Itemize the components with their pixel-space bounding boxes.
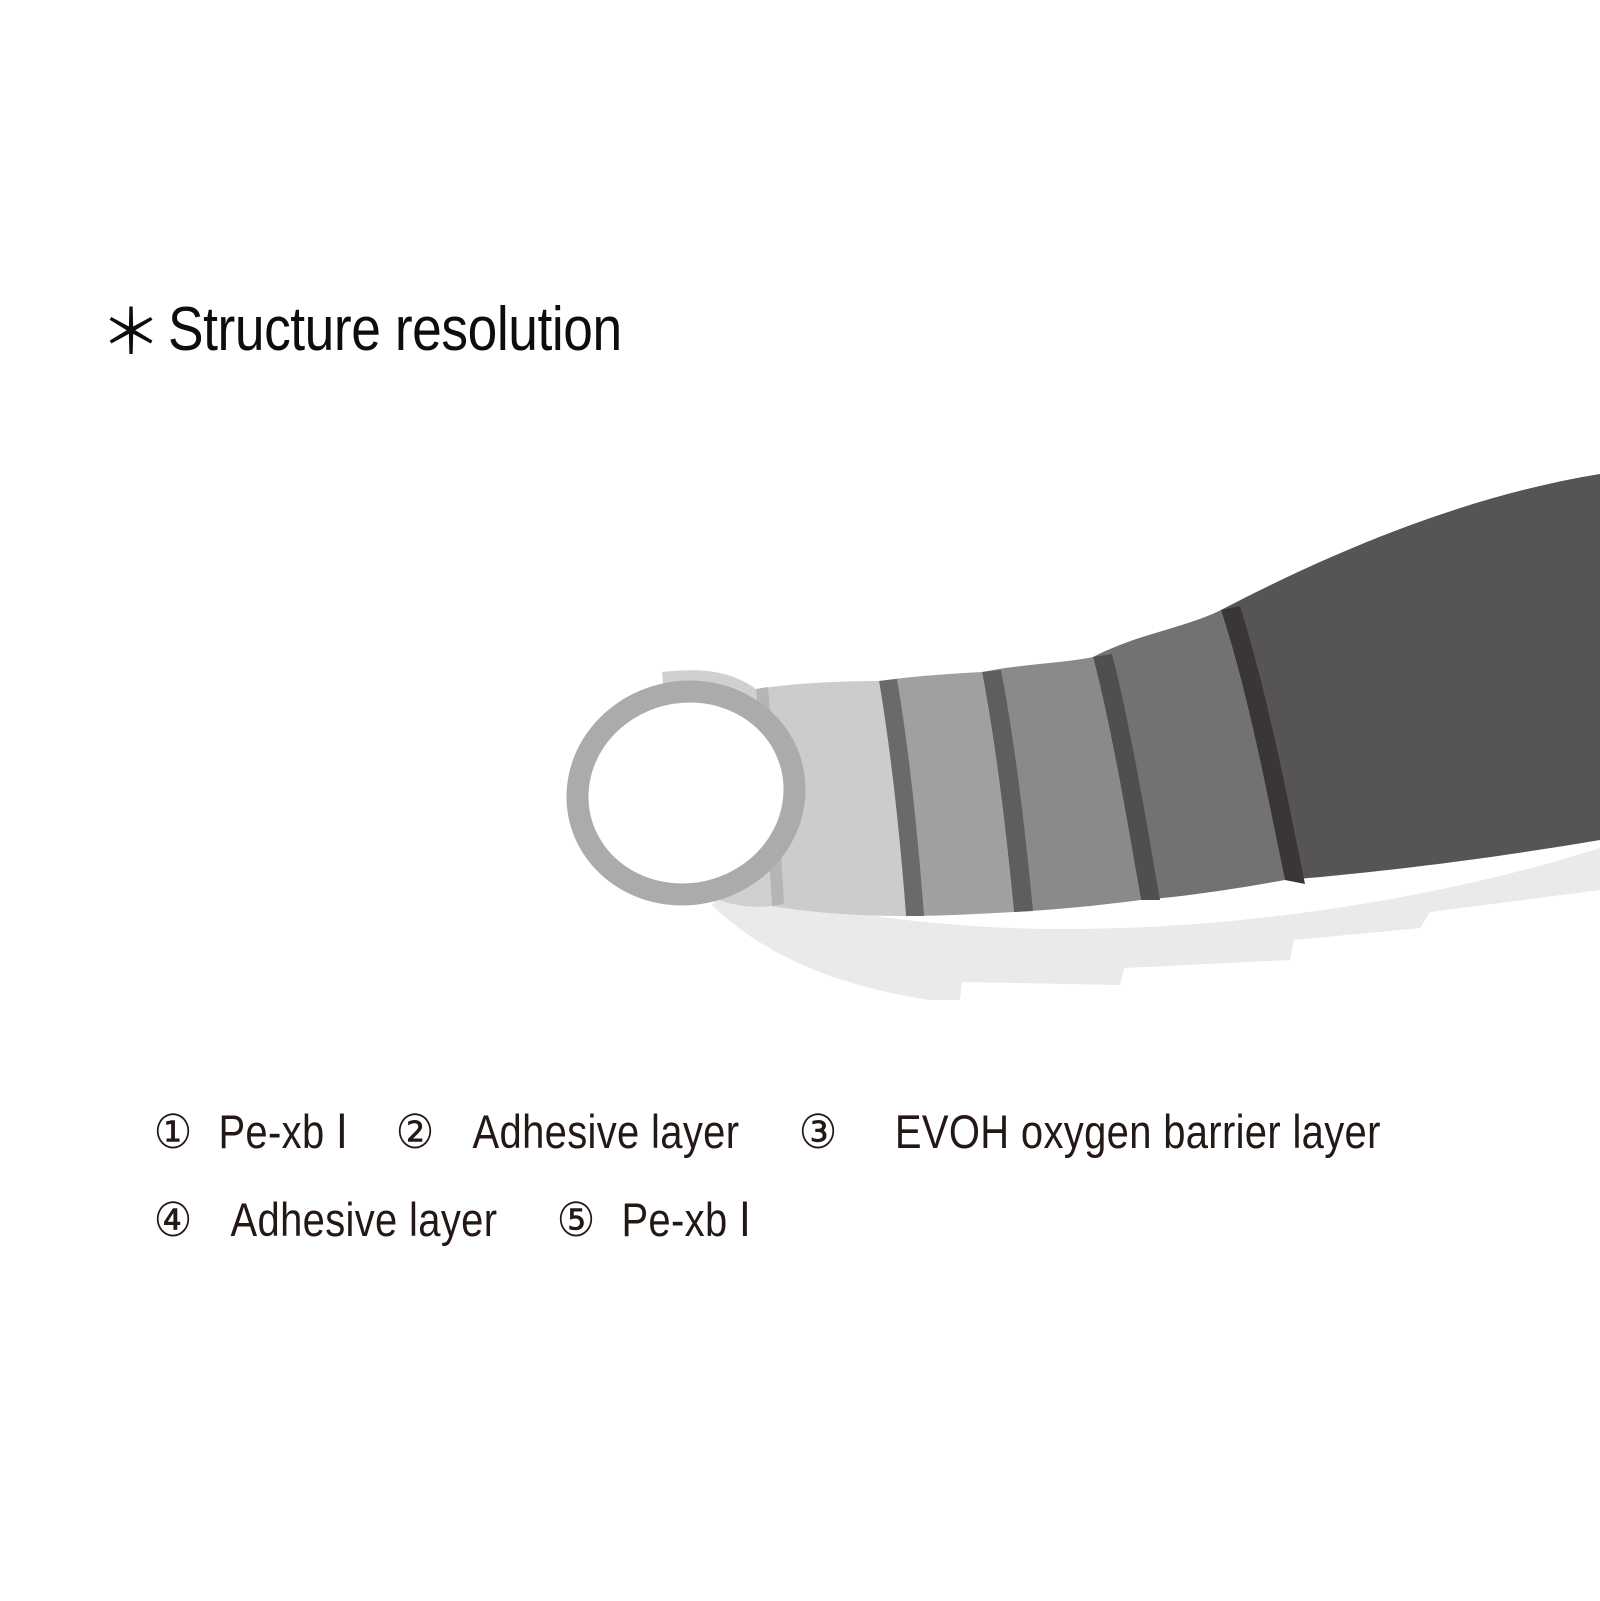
legend-item-2: ② Adhesive layer (394, 1108, 763, 1156)
legend-label-2: Adhesive layer (472, 1108, 739, 1155)
pipe-shadow (712, 848, 1600, 1000)
pipe-layer-5-body (1221, 474, 1600, 880)
legend-label-4: Adhesive layer (231, 1196, 498, 1243)
circled-number-2-icon: ② (395, 1109, 434, 1156)
legend-item-5: ⑤ Pe-xb Ⅰ (555, 1196, 763, 1244)
page-title-text: Structure resolution (168, 297, 622, 362)
pipe-layer-2-body (879, 672, 1014, 916)
pipe-inner-bore-ellipse (569, 682, 803, 904)
multilayer-pipe-diagram (0, 0, 1600, 1601)
pipe-layer-3-edge (982, 670, 1033, 912)
circled-number-1-icon: ① (154, 1109, 193, 1156)
pipe-outer-wall-ellipse (542, 655, 829, 930)
circled-number-4-icon: ④ (154, 1197, 193, 1244)
illustration-canvas: ＊ Structure resolution (0, 0, 1600, 1601)
pipe-bore-face (662, 670, 772, 907)
legend: ① Pe-xb Ⅰ ② Adhesive layer ③ EVOH oxygen… (152, 1108, 1492, 1284)
legend-row-2: ④ Adhesive layer ⑤ Pe-xb Ⅰ (152, 1196, 1492, 1284)
legend-label-5: Pe-xb Ⅰ (622, 1196, 752, 1243)
pipe-layer-3-body (982, 657, 1141, 912)
pipe-layer-4-body (1093, 610, 1285, 900)
legend-item-3: ③ EVOH oxygen barrier layer (797, 1108, 1424, 1156)
pipe-layer-1-edge (756, 687, 784, 906)
legend-label-1: Pe-xb Ⅰ (219, 1108, 349, 1155)
asterisk-marker: ＊ (100, 303, 168, 365)
pipe-layer-5-edge (1221, 606, 1305, 884)
legend-row-1: ① Pe-xb Ⅰ ② Adhesive layer ③ EVOH oxygen… (152, 1108, 1492, 1196)
pipe-layer-1-body (756, 681, 906, 916)
circled-number-5-icon: ⑤ (557, 1197, 596, 1244)
pipe-layer-2-edge (879, 679, 924, 916)
legend-item-1: ① Pe-xb Ⅰ (152, 1108, 360, 1156)
legend-label-3: EVOH oxygen barrier layer (895, 1108, 1381, 1155)
pipe-end-cross-section (542, 655, 829, 930)
legend-item-4: ④ Adhesive layer (152, 1196, 521, 1244)
page-title: ＊ Structure resolution (100, 297, 696, 362)
circled-number-3-icon: ③ (798, 1109, 837, 1156)
pipe-layer-4-edge (1093, 654, 1160, 900)
